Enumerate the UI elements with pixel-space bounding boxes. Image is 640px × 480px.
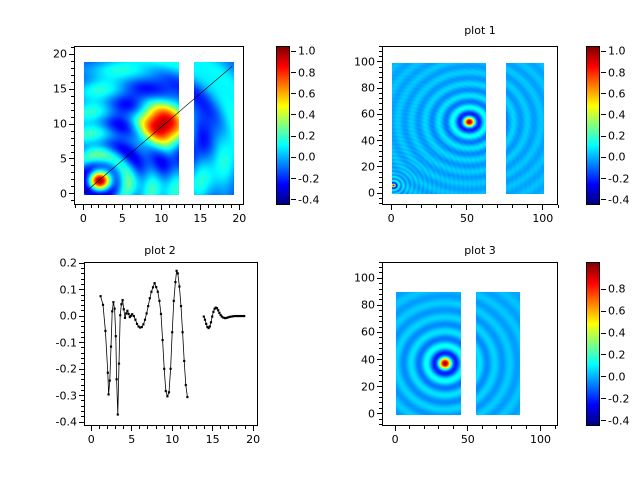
plot1-colorbar-ticks: -0.4-0.20.00.20.40.60.81.0: [320, 0, 640, 240]
y-minor-tick: [81, 326, 84, 327]
x-tick-label: 0: [71, 433, 111, 446]
x-tick-label: 5: [112, 433, 152, 446]
y-tick: [79, 263, 84, 264]
y-tick: [79, 395, 84, 396]
y-minor-tick: [81, 273, 84, 274]
colorbar-tick-label: 0.2: [608, 130, 640, 143]
x-minor-tick: [196, 426, 197, 429]
colorbar-tick: [601, 178, 606, 179]
y-tick: [79, 316, 84, 317]
subplot-top-left: 0510152005101520 -0.4-0.20.00.20.40.60.8…: [0, 0, 320, 240]
colorbar-tick-label: 0.0: [608, 370, 640, 383]
x-minor-tick: [236, 426, 237, 429]
colorbar-tick-label: -0.4: [608, 414, 640, 427]
plot2-ticks: -0.4-0.3-0.2-0.10.00.10.205101520: [0, 240, 320, 480]
colorbar-tick: [291, 136, 296, 137]
y-minor-tick: [81, 321, 84, 322]
colorbar-tick-label: 0.6: [608, 305, 640, 318]
y-minor-tick: [81, 390, 84, 391]
colorbar-tick: [601, 333, 606, 334]
y-minor-tick: [81, 310, 84, 311]
y-minor-tick: [81, 363, 84, 364]
x-minor-tick: [180, 426, 181, 429]
colorbar-tick: [291, 114, 296, 115]
colorbar-tick: [601, 289, 606, 290]
y-minor-tick: [81, 353, 84, 354]
y-tick: [79, 289, 84, 290]
y-minor-tick: [81, 279, 84, 280]
colorbar-tick: [291, 93, 296, 94]
y-tick-label: 0.2: [44, 257, 77, 270]
colorbar-tick-label: -0.2: [608, 172, 640, 185]
y-minor-tick: [81, 385, 84, 386]
plot0-colorbar-ticks: -0.4-0.20.00.20.40.60.81.0: [0, 0, 320, 240]
y-minor-tick: [81, 416, 84, 417]
colorbar-tick-label: 0.8: [608, 66, 640, 79]
colorbar-tick: [601, 398, 606, 399]
figure-canvas: 0510152005101520 -0.4-0.20.00.20.40.60.8…: [0, 0, 640, 480]
colorbar-tick: [291, 199, 296, 200]
y-minor-tick: [81, 295, 84, 296]
subplot-bottom-left: plot 2 -0.4-0.3-0.2-0.10.00.10.205101520: [0, 240, 320, 480]
x-tick: [91, 426, 92, 431]
x-minor-tick: [123, 426, 124, 429]
y-tick-label: -0.3: [44, 389, 77, 402]
y-minor-tick: [81, 379, 84, 380]
y-tick-label: -0.4: [44, 416, 77, 429]
y-minor-tick: [81, 374, 84, 375]
colorbar-tick-label: 0.4: [608, 108, 640, 121]
subplot-top-right: plot 1 020406080100050100 -0.4-0.20.00.2…: [320, 0, 640, 240]
y-tick-label: 0.0: [44, 310, 77, 323]
colorbar-tick: [601, 93, 606, 94]
y-minor-tick: [81, 406, 84, 407]
colorbar-tick: [601, 51, 606, 52]
y-minor-tick: [81, 411, 84, 412]
colorbar-tick-label: 0.8: [608, 283, 640, 296]
x-minor-tick: [115, 426, 116, 429]
x-tick-label: 15: [193, 433, 233, 446]
colorbar-tick: [601, 354, 606, 355]
colorbar-tick: [601, 199, 606, 200]
x-minor-tick: [220, 426, 221, 429]
x-minor-tick: [245, 426, 246, 429]
colorbar-tick: [601, 311, 606, 312]
y-tick-label: -0.2: [44, 363, 77, 376]
x-minor-tick: [147, 426, 148, 429]
x-tick: [212, 426, 213, 431]
plot3-colorbar-ticks: -0.4-0.20.00.20.40.60.8: [320, 240, 640, 480]
x-tick-label: 20: [233, 433, 273, 446]
y-tick: [79, 369, 84, 370]
x-minor-tick: [188, 426, 189, 429]
colorbar-tick-label: -0.4: [608, 193, 640, 206]
colorbar-tick: [291, 178, 296, 179]
colorbar-tick: [601, 72, 606, 73]
colorbar-tick: [601, 157, 606, 158]
x-minor-tick: [164, 426, 165, 429]
x-tick: [253, 426, 254, 431]
x-tick: [172, 426, 173, 431]
x-minor-tick: [139, 426, 140, 429]
x-tick-label: 10: [152, 433, 192, 446]
y-minor-tick: [81, 305, 84, 306]
colorbar-tick: [601, 420, 606, 421]
x-minor-tick: [204, 426, 205, 429]
colorbar-tick: [291, 157, 296, 158]
y-minor-tick: [81, 332, 84, 333]
x-minor-tick: [99, 426, 100, 429]
colorbar-tick: [291, 51, 296, 52]
colorbar-tick-label: 0.0: [608, 151, 640, 164]
colorbar-tick: [291, 72, 296, 73]
y-tick: [79, 422, 84, 423]
colorbar-tick: [601, 114, 606, 115]
colorbar-tick-label: 0.2: [608, 348, 640, 361]
y-minor-tick: [81, 300, 84, 301]
x-tick: [131, 426, 132, 431]
colorbar-tick-label: 0.6: [608, 87, 640, 100]
y-minor-tick: [81, 358, 84, 359]
colorbar-tick-label: 0.4: [608, 327, 640, 340]
y-tick-label: 0.1: [44, 283, 77, 296]
y-tick-label: -0.1: [44, 336, 77, 349]
y-minor-tick: [81, 284, 84, 285]
subplot-bottom-right: plot 3 020406080100050100 -0.4-0.20.00.2…: [320, 240, 640, 480]
y-minor-tick: [81, 337, 84, 338]
y-minor-tick: [81, 347, 84, 348]
colorbar-tick-label: 1.0: [608, 45, 640, 58]
x-minor-tick: [156, 426, 157, 429]
colorbar-tick: [601, 136, 606, 137]
x-minor-tick: [228, 426, 229, 429]
y-minor-tick: [81, 400, 84, 401]
y-minor-tick: [81, 268, 84, 269]
y-tick: [79, 342, 84, 343]
x-minor-tick: [107, 426, 108, 429]
colorbar-tick-label: -0.2: [608, 392, 640, 405]
colorbar-tick: [601, 376, 606, 377]
